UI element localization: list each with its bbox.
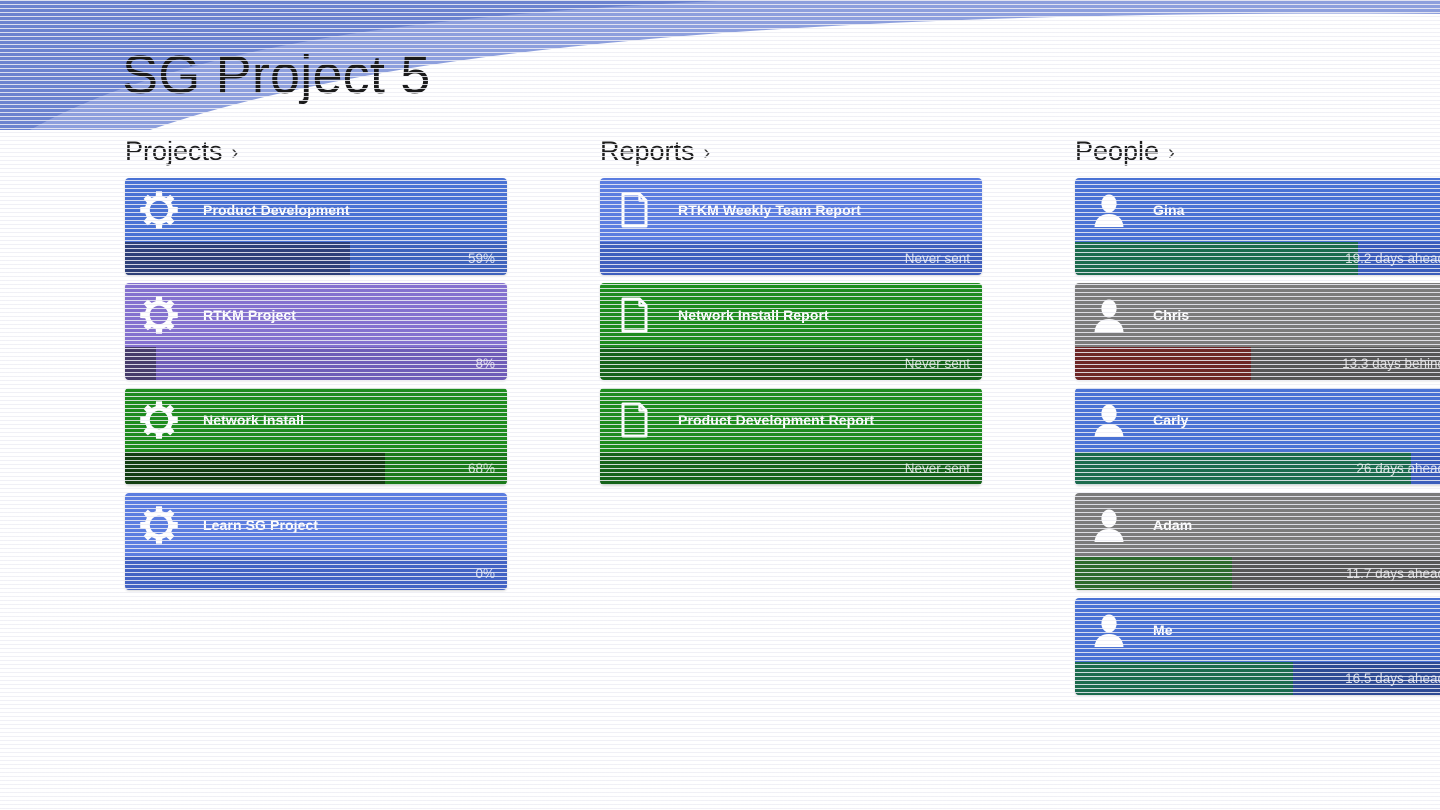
tile-progress-label: Never sent [905, 347, 970, 380]
tile-people-1[interactable]: Chris13.3 days behind [1075, 283, 1440, 380]
tile-body: RTKM Project [125, 283, 507, 347]
tile-progress-fill [1075, 662, 1293, 695]
tile-body: Network Install [125, 388, 507, 452]
column-projects: Projects › Product Development59%RTKM Pr… [125, 136, 507, 598]
gear-icon [139, 400, 179, 440]
tile-title: Me [1153, 622, 1173, 638]
tile-progress-bar: 68% [125, 452, 507, 485]
chevron-right-icon: › [704, 142, 711, 165]
tile-title: RTKM Project [203, 307, 296, 323]
tile-reports-1[interactable]: Network Install ReportNever sent [600, 283, 982, 380]
tile-people-4[interactable]: Me16.5 days ahead [1075, 598, 1440, 695]
person-icon [1089, 295, 1129, 335]
tile-progress-bar: 16.5 days ahead [1075, 662, 1440, 695]
column-header-reports[interactable]: Reports › [600, 136, 982, 178]
tile-reports-2[interactable]: Product Development ReportNever sent [600, 388, 982, 485]
document-icon [614, 400, 654, 440]
tile-list-projects: Product Development59%RTKM Project8%Netw… [125, 178, 507, 590]
column-title-reports: Reports [600, 136, 695, 167]
column-title-people: People [1075, 136, 1159, 167]
tile-progress-label: 68% [468, 452, 495, 485]
tile-progress-bar: 13.3 days behind [1075, 347, 1440, 380]
tile-title: Learn SG Project [203, 517, 318, 533]
tile-progress-fill [1075, 347, 1251, 380]
tile-reports-0[interactable]: RTKM Weekly Team ReportNever sent [600, 178, 982, 275]
chevron-right-icon: › [1168, 142, 1175, 165]
tile-body: Gina [1075, 178, 1440, 242]
tile-progress-bar: 8% [125, 347, 507, 380]
tile-title: RTKM Weekly Team Report [678, 202, 861, 218]
tile-progress-label: 13.3 days behind [1342, 347, 1440, 380]
tile-projects-3[interactable]: Learn SG Project0% [125, 493, 507, 590]
gear-icon [139, 190, 179, 230]
tile-body: Chris [1075, 283, 1440, 347]
tile-list-reports: RTKM Weekly Team ReportNever sentNetwork… [600, 178, 982, 485]
tile-body: Learn SG Project [125, 493, 507, 557]
tile-body: Product Development [125, 178, 507, 242]
column-header-projects[interactable]: Projects › [125, 136, 507, 178]
column-header-people[interactable]: People › [1075, 136, 1440, 178]
tile-title: Network Install [203, 412, 304, 428]
tile-progress-fill [1075, 557, 1232, 590]
gear-icon [139, 295, 179, 335]
column-title-projects: Projects [125, 136, 223, 167]
person-icon [1089, 190, 1129, 230]
document-icon [614, 295, 654, 335]
tile-progress-bar: 19.2 days ahead [1075, 242, 1440, 275]
tile-people-0[interactable]: Gina19.2 days ahead [1075, 178, 1440, 275]
document-icon [614, 190, 654, 230]
column-reports: Reports › RTKM Weekly Team ReportNever s… [600, 136, 982, 493]
tile-body: Carly [1075, 388, 1440, 452]
tile-title: Network Install Report [678, 307, 829, 323]
page-title: SG Project 5 [122, 46, 431, 105]
tile-body: Me [1075, 598, 1440, 662]
person-icon [1089, 400, 1129, 440]
tile-progress-label: 0% [475, 557, 495, 590]
gear-icon [139, 505, 179, 545]
tile-projects-0[interactable]: Product Development59% [125, 178, 507, 275]
tile-progress-label: 59% [468, 242, 495, 275]
tile-progress-fill [125, 452, 385, 485]
tile-title: Adam [1153, 517, 1192, 533]
tile-progress-label: 26 days ahead [1356, 452, 1440, 485]
tile-progress-bar: 0% [125, 557, 507, 590]
tile-progress-bar: 11.7 days ahead [1075, 557, 1440, 590]
tile-people-3[interactable]: Adam11.7 days ahead [1075, 493, 1440, 590]
tile-progress-fill [1075, 242, 1358, 275]
tile-progress-label: Never sent [905, 452, 970, 485]
tile-progress-label: 16.5 days ahead [1345, 662, 1440, 695]
tile-projects-1[interactable]: RTKM Project8% [125, 283, 507, 380]
tile-title: Gina [1153, 202, 1185, 218]
tile-progress-label: 11.7 days ahead [1346, 557, 1440, 590]
tile-progress-bar: Never sent [600, 242, 982, 275]
tile-projects-2[interactable]: Network Install68% [125, 388, 507, 485]
tile-body: Product Development Report [600, 388, 982, 452]
tile-title: Product Development Report [678, 412, 874, 428]
tile-body: Network Install Report [600, 283, 982, 347]
tile-progress-bar: Never sent [600, 347, 982, 380]
tile-progress-bar: 26 days ahead [1075, 452, 1440, 485]
tile-body: Adam [1075, 493, 1440, 557]
tile-people-2[interactable]: Carly26 days ahead [1075, 388, 1440, 485]
tile-progress-label: 8% [475, 347, 495, 380]
tile-title: Chris [1153, 307, 1189, 323]
tile-progress-label: Never sent [905, 242, 970, 275]
person-icon [1089, 505, 1129, 545]
tile-progress-fill [125, 347, 156, 380]
tile-progress-fill [125, 242, 350, 275]
tile-list-people: Gina19.2 days aheadChris13.3 days behind… [1075, 178, 1440, 695]
tile-progress-label: 19.2 days ahead [1345, 242, 1440, 275]
tile-title: Product Development [203, 202, 350, 218]
tile-body: RTKM Weekly Team Report [600, 178, 982, 242]
person-icon [1089, 610, 1129, 650]
tile-title: Carly [1153, 412, 1189, 428]
tile-progress-bar: 59% [125, 242, 507, 275]
chevron-right-icon: › [232, 142, 239, 165]
column-people: People › Gina19.2 days aheadChris13.3 da… [1075, 136, 1440, 703]
tile-progress-bar: Never sent [600, 452, 982, 485]
